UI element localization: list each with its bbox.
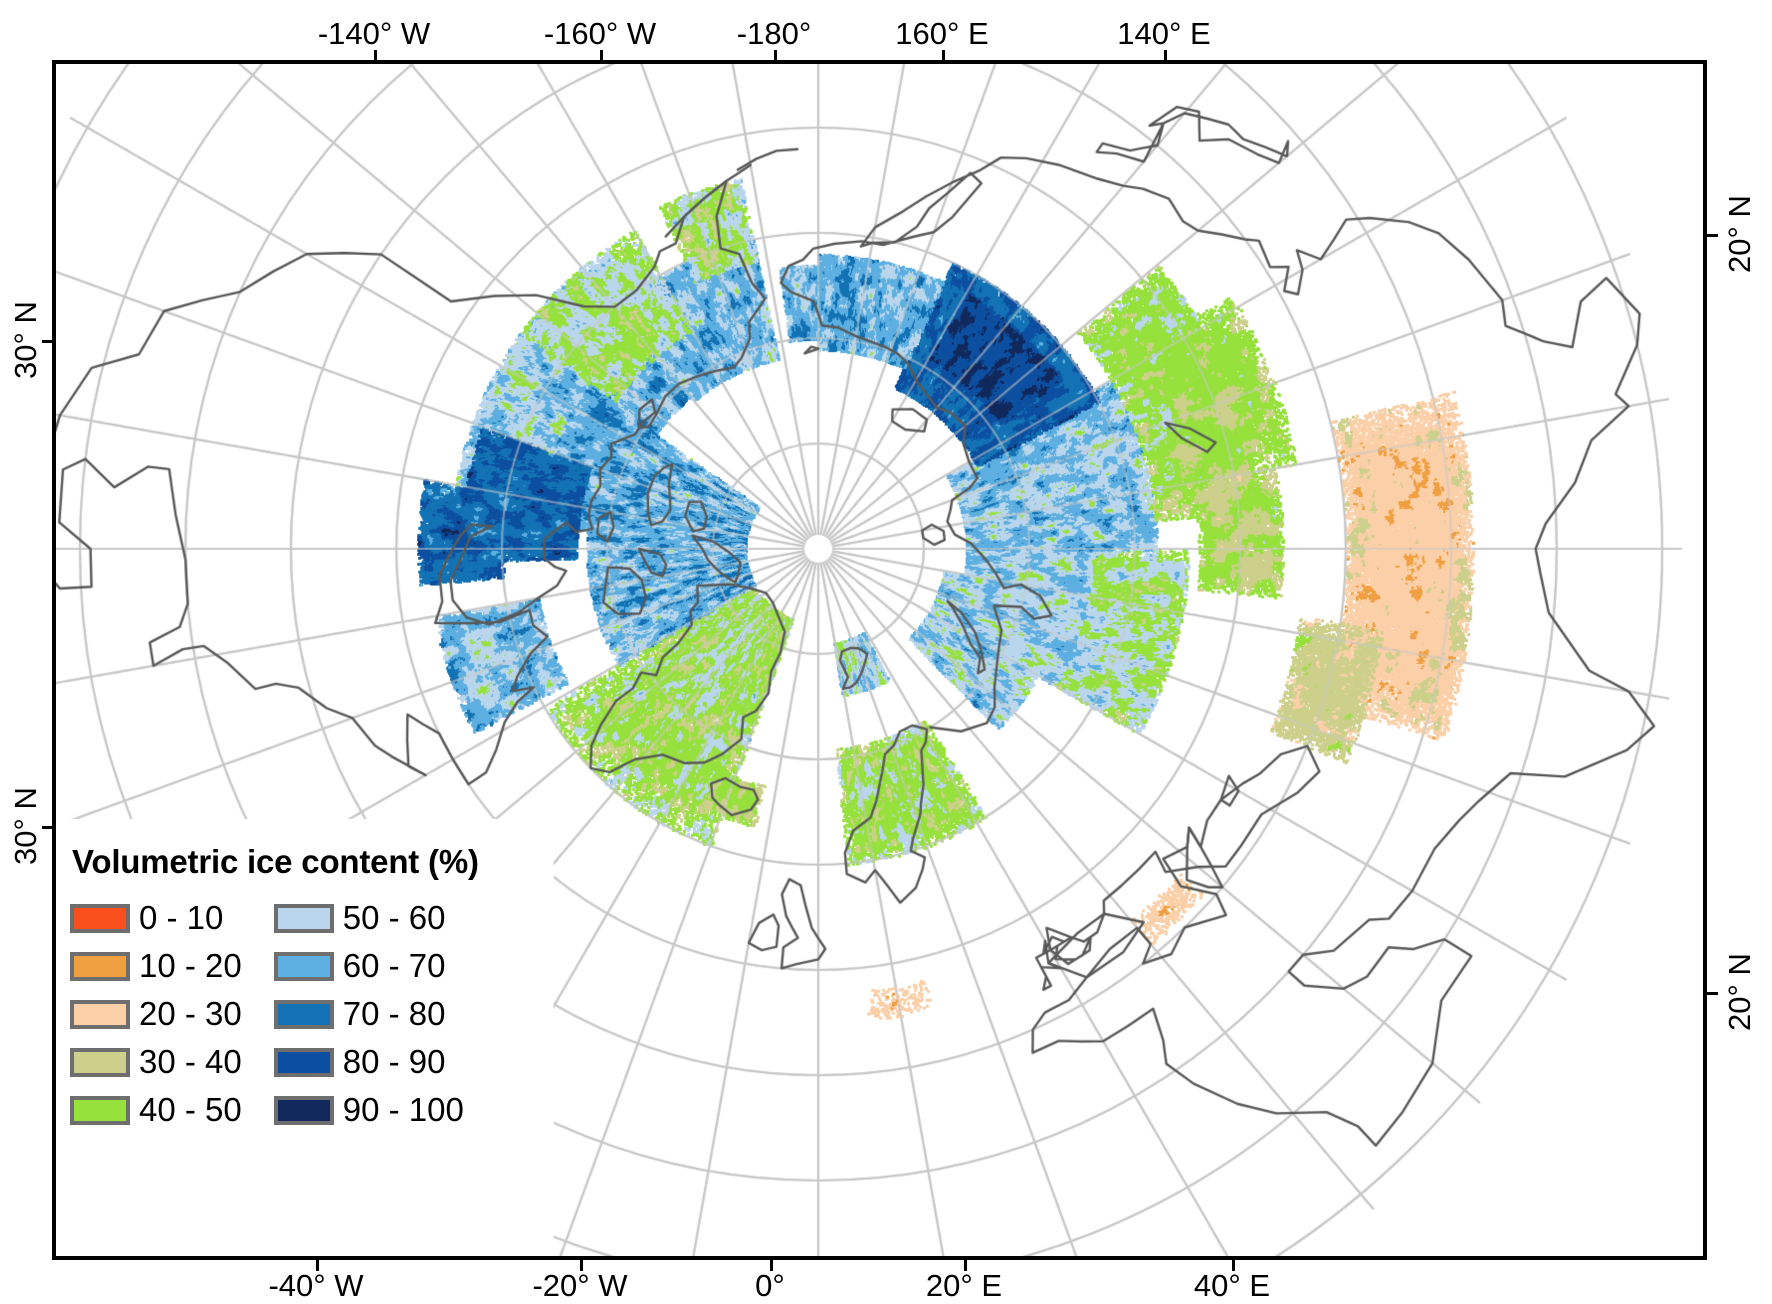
legend-swatch — [70, 1000, 130, 1029]
axis-tick-left — [42, 340, 53, 343]
legend: Volumetric ice content (%) 0 - 1010 - 20… — [70, 843, 540, 1127]
axis-tick-bottom — [964, 1260, 967, 1271]
legend-swatch — [274, 1048, 334, 1077]
legend-item-label: 30 - 40 — [139, 1045, 242, 1079]
axis-label-right: 20° N — [1722, 953, 1758, 1031]
legend-swatch — [274, 952, 334, 981]
axis-label-bottom: 20° E — [926, 1268, 1002, 1304]
axis-label-left: 30° N — [8, 301, 44, 379]
axis-label-bottom: 0° — [755, 1268, 785, 1304]
legend-swatch — [274, 1096, 334, 1125]
legend-item: 20 - 30 — [70, 997, 242, 1031]
axis-tick-bottom — [1232, 1260, 1235, 1271]
axis-label-top: -140° W — [318, 16, 430, 52]
legend-title: Volumetric ice content (%) — [72, 843, 540, 881]
axis-tick-right — [1707, 234, 1718, 237]
axis-label-bottom: -20° W — [532, 1268, 627, 1304]
legend-item: 30 - 40 — [70, 1045, 242, 1079]
legend-swatch — [70, 904, 130, 933]
legend-swatch — [70, 1048, 130, 1077]
legend-item: 90 - 100 — [274, 1093, 464, 1127]
legend-item: 70 - 80 — [274, 997, 464, 1031]
legend-swatch — [274, 904, 334, 933]
legend-column-right: 50 - 6060 - 7070 - 8080 - 9090 - 100 — [274, 901, 464, 1127]
axis-tick-right — [1707, 992, 1718, 995]
axis-label-bottom: 40° E — [1194, 1268, 1270, 1304]
legend-item: 50 - 60 — [274, 901, 464, 935]
legend-item: 60 - 70 — [274, 949, 464, 983]
legend-swatch — [274, 1000, 334, 1029]
axis-label-top: -160° W — [544, 16, 656, 52]
legend-swatch — [70, 952, 130, 981]
legend-item-label: 90 - 100 — [343, 1093, 464, 1127]
axis-tick-top — [600, 50, 603, 61]
axis-label-top: -180° — [737, 16, 811, 52]
legend-item: 80 - 90 — [274, 1045, 464, 1079]
axis-tick-top — [774, 50, 777, 61]
legend-item-label: 50 - 60 — [343, 901, 446, 935]
axis-tick-bottom — [770, 1260, 773, 1271]
axis-label-top: 140° E — [1117, 16, 1210, 52]
axis-label-top: 160° E — [895, 16, 988, 52]
axis-tick-top — [942, 50, 945, 61]
legend-column-left: 0 - 1010 - 2020 - 3030 - 4040 - 50 — [70, 901, 242, 1127]
axis-label-bottom: -40° W — [268, 1268, 363, 1304]
axis-tick-top — [374, 50, 377, 61]
axis-tick-bottom — [316, 1260, 319, 1271]
legend-item: 0 - 10 — [70, 901, 242, 935]
axis-tick-bottom — [580, 1260, 583, 1271]
axis-tick-top — [1164, 50, 1167, 61]
map-figure: -140° W-160° W-180°160° E140° E-40° W-20… — [0, 0, 1772, 1300]
legend-item-label: 10 - 20 — [139, 949, 242, 983]
legend-item: 40 - 50 — [70, 1093, 242, 1127]
legend-swatch — [70, 1096, 130, 1125]
legend-item-label: 60 - 70 — [343, 949, 446, 983]
legend-columns: 0 - 1010 - 2020 - 3030 - 4040 - 50 50 - … — [70, 901, 540, 1127]
legend-item: 10 - 20 — [70, 949, 242, 983]
legend-item-label: 20 - 30 — [139, 997, 242, 1031]
axis-label-left: 30° N — [8, 787, 44, 865]
legend-item-label: 80 - 90 — [343, 1045, 446, 1079]
axis-tick-left — [42, 826, 53, 829]
axis-label-right: 20° N — [1722, 195, 1758, 273]
legend-item-label: 70 - 80 — [343, 997, 446, 1031]
legend-item-label: 0 - 10 — [139, 901, 223, 935]
legend-item-label: 40 - 50 — [139, 1093, 242, 1127]
